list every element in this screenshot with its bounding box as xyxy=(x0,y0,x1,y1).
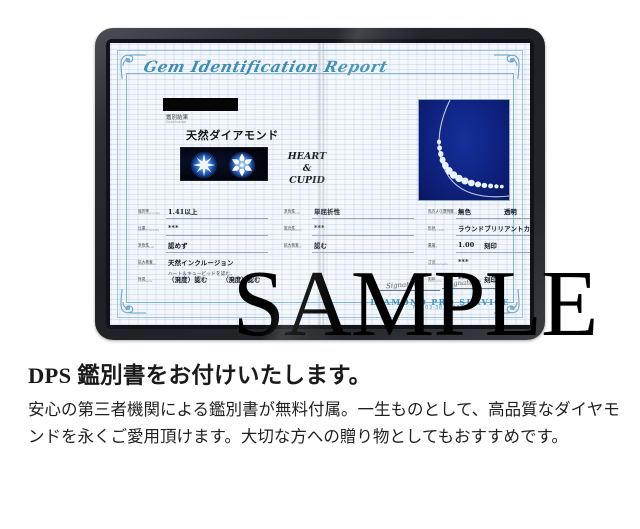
caption-body: 安心の第三者機関による鑑別書が無料付属。一生ものとして、高品質なダイヤモンドを永… xyxy=(28,397,622,450)
field-value: ラウンドブリリアントカット xyxy=(458,224,530,233)
caption-block: DPS 鑑別書をお付けいたします。 安心の第三者機関による鑑別書が無料付属。一生… xyxy=(28,358,622,450)
hearts-cupid-label: HEART & CUPID xyxy=(278,151,336,187)
certificate-photo: Gem Identification Report 鑑別結果 Conclusio… xyxy=(95,28,545,340)
corner-flourish-icon xyxy=(492,51,522,81)
field-fluorescence: 蛍光性Fluorescence *** xyxy=(284,223,416,239)
field-label-en: Refractive Index xyxy=(138,213,168,216)
necklace-illustration-icon xyxy=(419,100,510,201)
field-label-en: Specific Gravity xyxy=(138,230,168,233)
field-value: 1.41以上 xyxy=(168,207,198,216)
field-shape-cut: 形状Shape / Cut ラウンドブリリアントカット xyxy=(428,223,530,239)
diamond-necklace-photo xyxy=(418,99,510,201)
field-pleochroism: 多色性Pleochroism 単屈折性 xyxy=(284,206,416,222)
field-value: 1.00 xyxy=(458,241,474,249)
field-value-secondary: 透明 xyxy=(504,207,517,216)
redacted-bar xyxy=(163,98,238,111)
hearts-cupid-line2: & xyxy=(278,163,336,175)
field-label-en: Fluorescence xyxy=(284,230,314,233)
field-value: 単屈折性 xyxy=(314,207,340,216)
field-label-en: Pleochroism xyxy=(284,213,314,216)
field-label-en: Comments xyxy=(138,281,168,284)
field-value: 認む xyxy=(314,241,327,250)
sample-watermark: SAMPLE xyxy=(190,257,640,351)
field-refractive-index: 屈折率Refractive Index 1.41以上 xyxy=(138,206,270,222)
field-label-en: Magnification xyxy=(138,264,168,267)
hearts-and-arrows-photo xyxy=(180,147,268,181)
corner-flourish-icon xyxy=(118,287,148,317)
field-value: 認めず xyxy=(168,241,188,250)
certificate-title: Gem Identification Report xyxy=(142,57,390,76)
field-colour-transparency: 色および透明度Colour / Transparency 無色 透明 xyxy=(428,206,530,222)
field-value-secondary: 刻印 xyxy=(484,241,497,250)
field-label-en: Pleochroism xyxy=(138,247,168,250)
field-label-en: Magnification xyxy=(284,247,314,250)
hearts-cupid-line1: HEART xyxy=(278,151,336,163)
table-row: 屈折率Refractive Index 1.41以上 多色性Pleochrois… xyxy=(138,206,510,222)
field-specific-gravity: 比重Specific Gravity *** xyxy=(138,223,270,239)
field-value: *** xyxy=(168,224,179,232)
caption-heading: DPS 鑑別書をお付けいたします。 xyxy=(28,358,622,390)
conclusion-label-en: Conclusion xyxy=(166,120,186,124)
field-label-en: Colour / Transparency xyxy=(428,213,458,216)
arrows-pattern-icon xyxy=(190,151,218,179)
table-row: 比重Specific Gravity *** 蛍光性Fluorescence *… xyxy=(138,223,510,239)
hearts-cupid-line3: CUPID xyxy=(278,175,336,187)
conclusion-value: 天然ダイアモンド xyxy=(186,127,279,143)
hearts-pattern-icon xyxy=(228,151,256,179)
field-value: 無色 xyxy=(458,207,471,216)
field-label-en: Shape / Cut xyxy=(428,230,458,233)
field-label-en: Weight xyxy=(428,247,458,250)
field-value: *** xyxy=(314,224,325,232)
